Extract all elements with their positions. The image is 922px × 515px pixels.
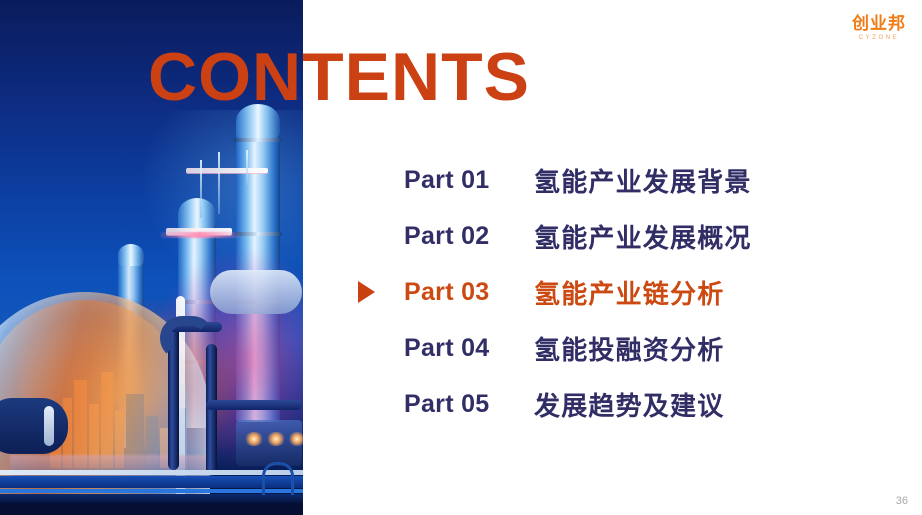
toc-section-title: 氢能投融资分析 [534, 330, 724, 367]
indicator-lamp [244, 432, 264, 446]
toc-section-title: 氢能产业发展概况 [534, 218, 752, 255]
tank-valve [44, 406, 54, 446]
mast [246, 150, 248, 190]
horizontal-tank [0, 398, 68, 454]
pressure-vessel [210, 270, 302, 314]
toc-item-part-04[interactable]: Part 04 氢能投融资分析 [352, 320, 892, 376]
indicator-lamp [288, 432, 303, 446]
pipe-elbow [160, 316, 214, 360]
pipe-band [0, 494, 303, 503]
pipe-arch [262, 462, 294, 495]
toc-section-title: 氢能产业发展背景 [534, 162, 752, 199]
pipe-horizontal [206, 400, 302, 410]
toc-part-label: Part 04 [404, 334, 512, 363]
toc-marker-slot [352, 281, 404, 303]
toc-part-label: Part 05 [404, 390, 512, 419]
contents-list: Part 01 氢能产业发展背景 Part 02 氢能产业发展概况 Part 0… [352, 152, 892, 432]
page-title: CONTENTS [148, 43, 530, 111]
indicator-lamp [266, 432, 286, 446]
toc-item-part-01[interactable]: Part 01 氢能产业发展背景 [352, 152, 892, 208]
page-number: 36 [896, 495, 908, 507]
tower-ring [234, 232, 282, 236]
toc-section-title: 发展趋势及建议 [534, 386, 724, 423]
toc-item-part-03[interactable]: Part 03 氢能产业链分析 [352, 264, 892, 320]
toc-marker-slot [352, 169, 404, 191]
pipe-band [0, 470, 303, 475]
catwalk [186, 168, 268, 173]
toc-marker-slot [352, 225, 404, 247]
toc-part-label: Part 03 [404, 278, 512, 307]
toc-marker-slot [352, 393, 404, 415]
pipe-band [0, 476, 303, 488]
pipe-band [0, 503, 303, 515]
brand-logo: 创业邦 CYZONE [852, 16, 906, 41]
toc-part-label: Part 02 [404, 222, 512, 251]
tower-slim-cap [118, 244, 144, 266]
platform-glow [160, 232, 240, 238]
tower-mid-cap [178, 198, 216, 230]
mast [218, 152, 220, 214]
slide-root: CONTENTS 创业邦 CYZONE Part 01 氢能产业发展背景 Par… [0, 0, 922, 515]
tower-ring [234, 138, 282, 142]
toc-part-label: Part 01 [404, 166, 512, 195]
mast [200, 160, 202, 218]
pipe-band [0, 489, 303, 493]
pipe-vertical [206, 344, 217, 476]
triangle-pointer-icon [358, 281, 375, 303]
toc-item-part-02[interactable]: Part 02 氢能产业发展概况 [352, 208, 892, 264]
logo-chinese-text: 创业邦 [852, 16, 906, 34]
logo-latin-text: CYZONE [852, 35, 906, 41]
toc-marker-slot [352, 337, 404, 359]
toc-section-title: 氢能产业链分析 [534, 274, 724, 311]
toc-item-part-05[interactable]: Part 05 发展趋势及建议 [352, 376, 892, 432]
